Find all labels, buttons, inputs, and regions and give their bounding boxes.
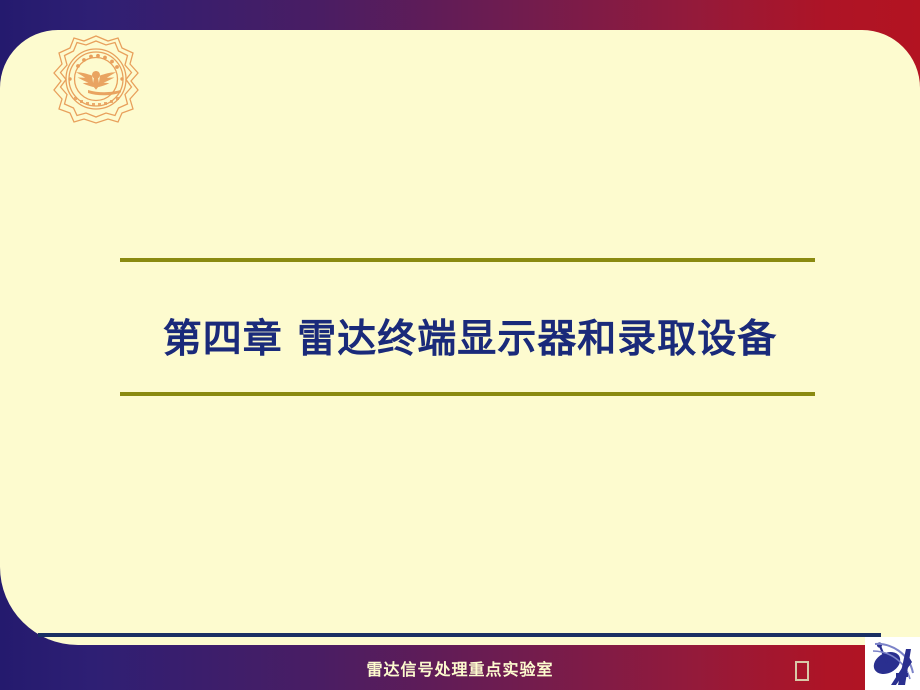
footer-divider	[38, 633, 881, 637]
radar-antenna-logo	[865, 637, 920, 690]
slide-canvas: 第四章 雷达终端显示器和录取设备 雷达信号处理重点实验室	[0, 0, 920, 690]
slide-number-placeholder	[795, 661, 809, 681]
title-rule-bottom	[120, 392, 815, 396]
footer-label: 雷达信号处理重点实验室	[0, 645, 920, 690]
footer-band: 雷达信号处理重点实验室	[0, 645, 920, 690]
title-rule-top	[120, 258, 815, 262]
page-title: 第四章 雷达终端显示器和录取设备	[120, 286, 820, 386]
university-seal-logo	[48, 33, 144, 125]
